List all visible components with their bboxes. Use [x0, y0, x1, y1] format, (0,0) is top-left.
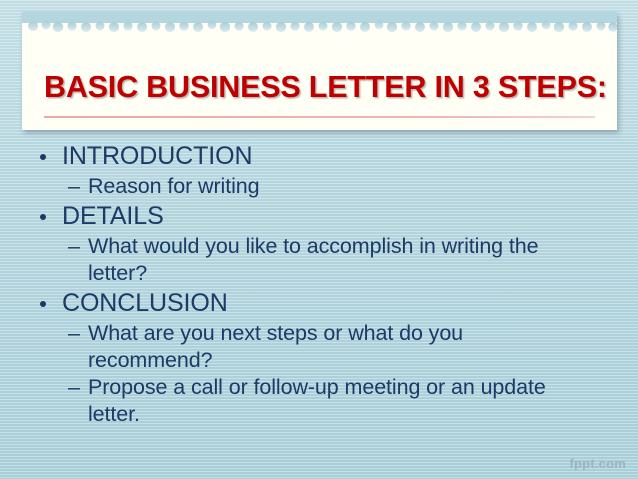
sub-bullet-item: – Propose a call or follow-up meeting or…: [0, 374, 638, 428]
watermark: fppt.com: [570, 456, 626, 471]
sub-bullet-item: – What are you next steps or what do you…: [0, 320, 638, 374]
scalloped-edge-icon: [22, 12, 617, 38]
bullet-item-details: DETAILS: [0, 200, 638, 233]
bullet-label: DETAILS: [62, 202, 164, 230]
sub-bullet-label: Reason for writing: [88, 174, 259, 198]
bullet-list: INTRODUCTION – Reason for writing DETAIL…: [0, 140, 638, 428]
bullet-label: CONCLUSION: [62, 289, 228, 317]
sub-bullet-label: What would you like to accomplish in wri…: [88, 234, 539, 285]
en-dash-bullet-icon: –: [68, 233, 80, 260]
round-bullet-icon: [40, 301, 46, 307]
bullet-label: INTRODUCTION: [62, 142, 252, 170]
sub-bullet-item: – Reason for writing: [0, 173, 638, 200]
title-card: BASIC BUSINESS LETTER IN 3 STEPS:: [22, 12, 617, 130]
sub-bullet-label: What are you next steps or what do you r…: [88, 321, 463, 372]
sub-bullet-item: – What would you like to accomplish in w…: [0, 233, 638, 287]
en-dash-bullet-icon: –: [68, 173, 80, 200]
page-title: BASIC BUSINESS LETTER IN 3 STEPS:: [44, 70, 604, 105]
sub-bullet-label: Propose a call or follow-up meeting or a…: [88, 375, 546, 426]
en-dash-bullet-icon: –: [68, 320, 80, 347]
round-bullet-icon: [40, 214, 46, 220]
bullet-item-conclusion: CONCLUSION: [0, 287, 638, 320]
presentation-slide: BASIC BUSINESS LETTER IN 3 STEPS: INTROD…: [0, 0, 638, 479]
en-dash-bullet-icon: –: [68, 374, 80, 401]
bullet-item-introduction: INTRODUCTION: [0, 140, 638, 173]
title-underline: [44, 116, 595, 118]
round-bullet-icon: [40, 154, 46, 160]
